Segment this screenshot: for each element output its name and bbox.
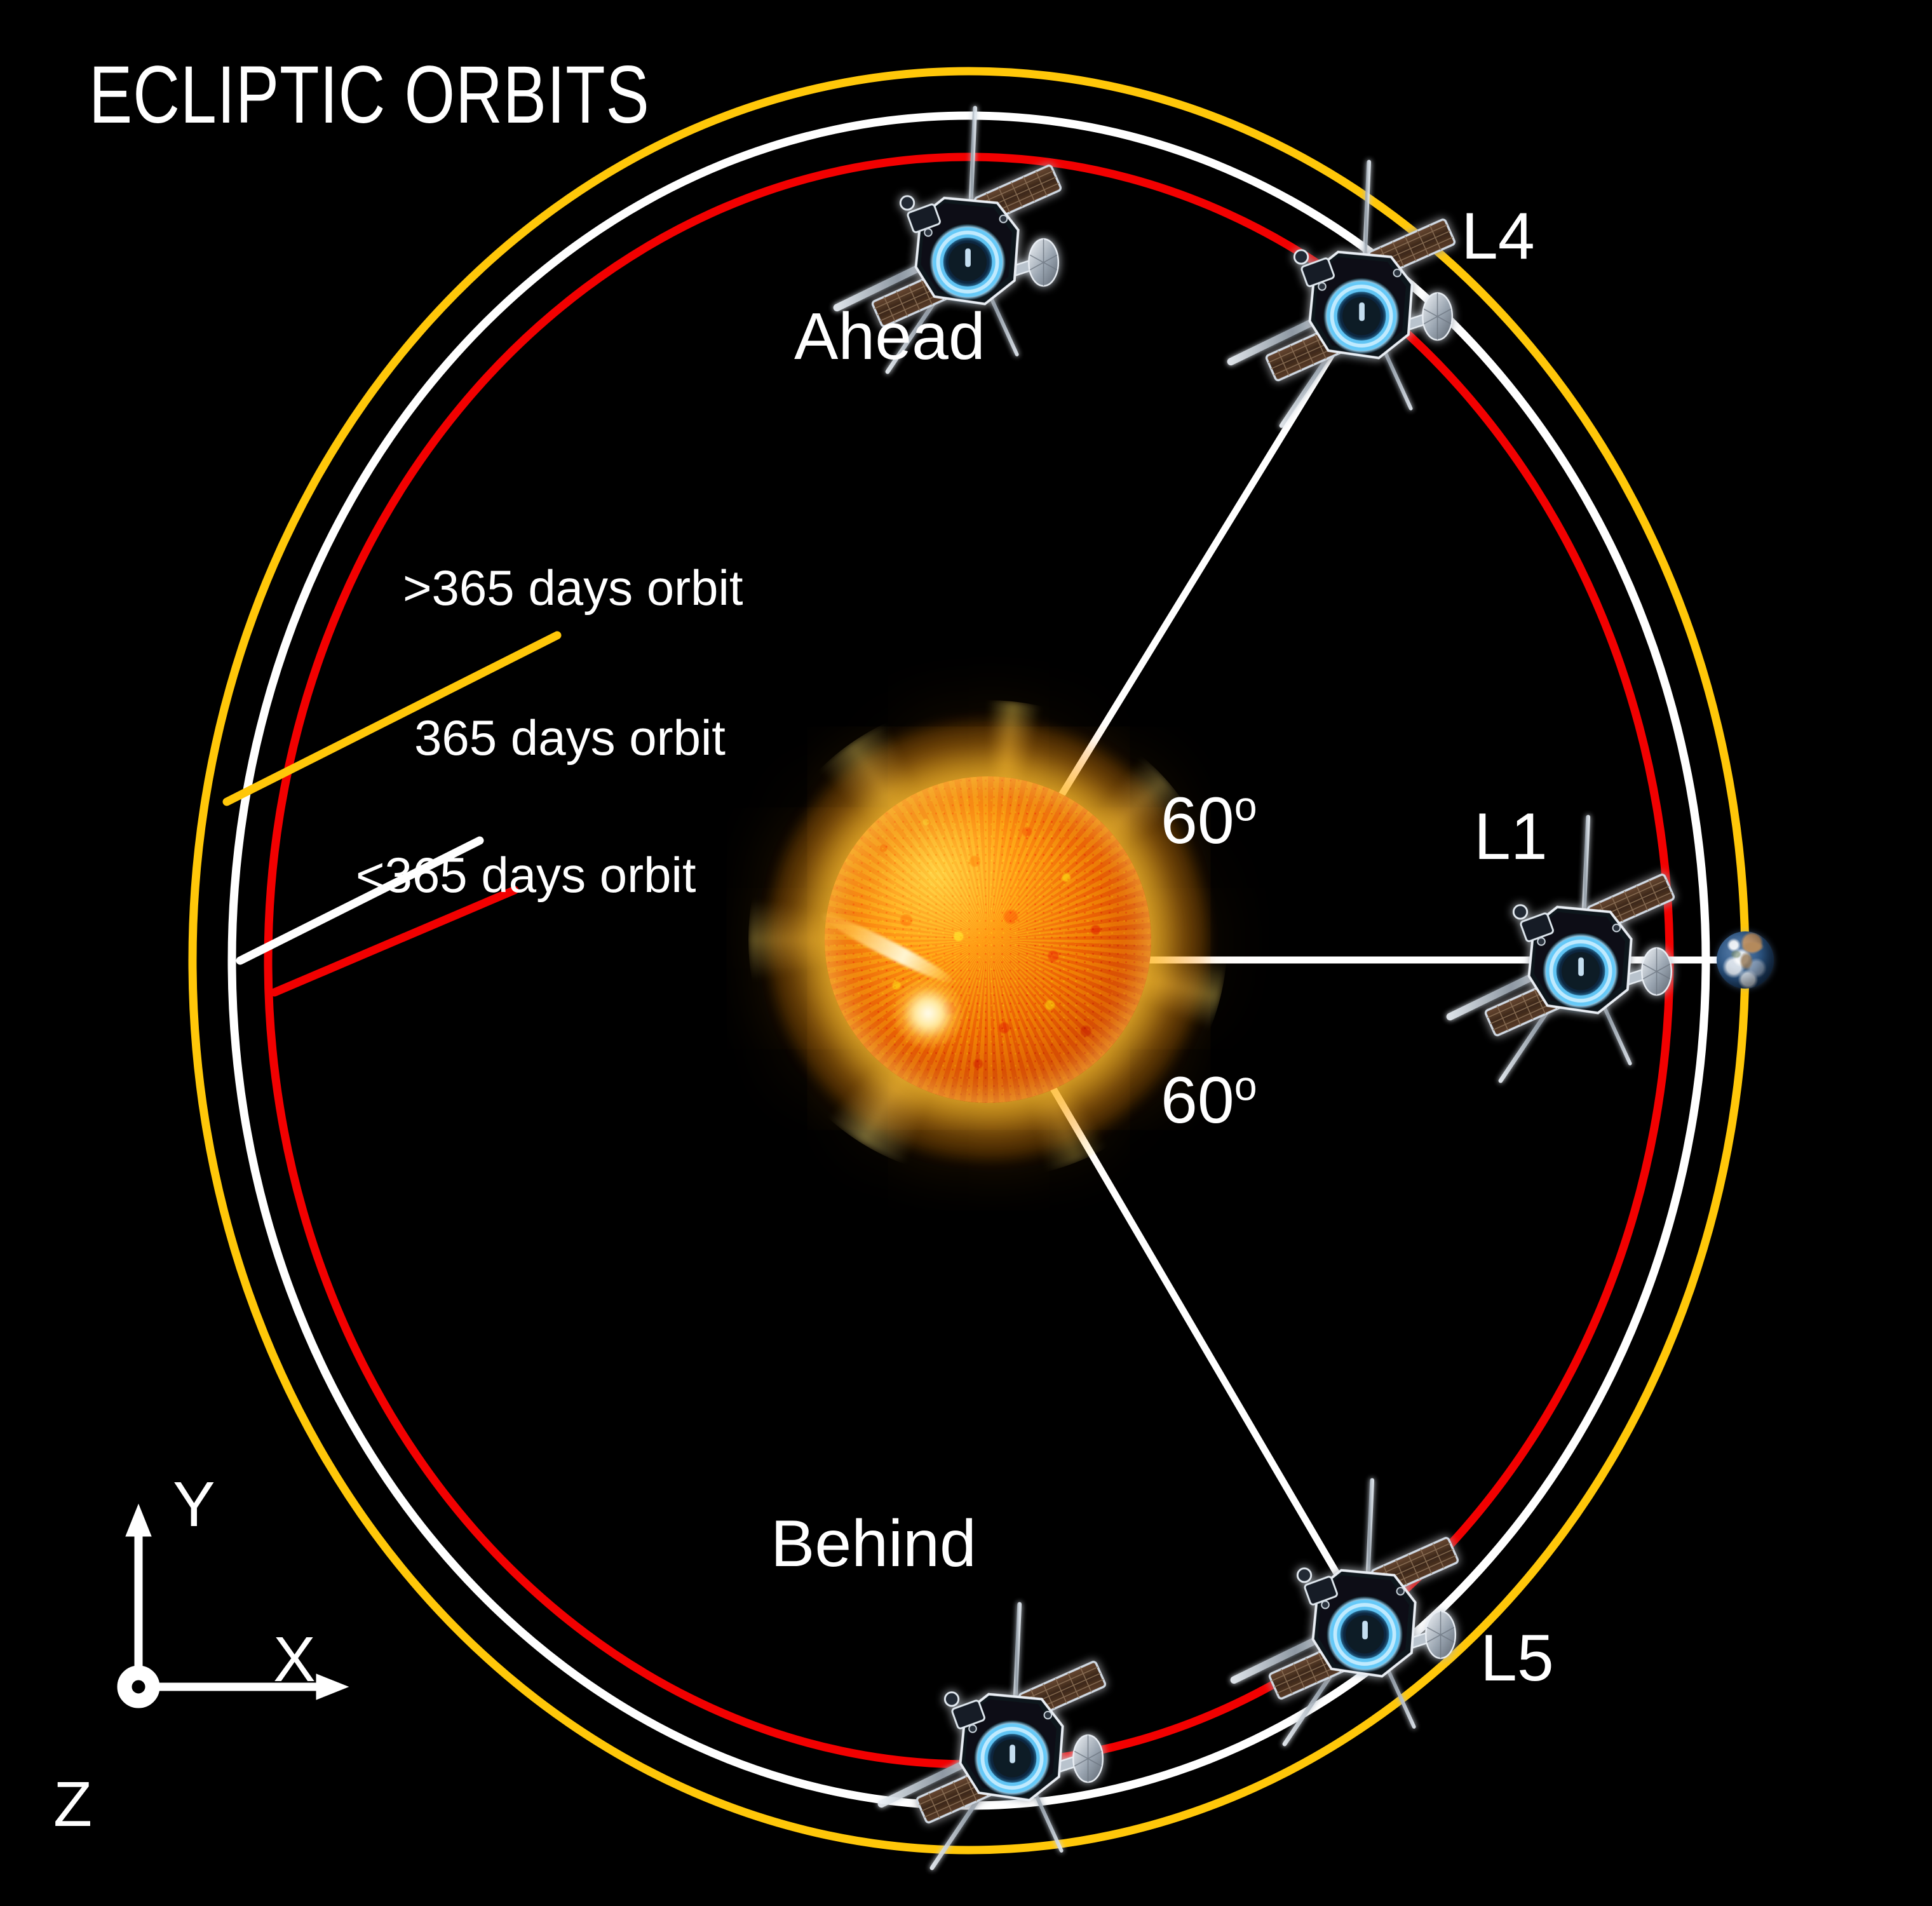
legend-label-earth-orbit: 365 days orbit bbox=[414, 713, 726, 762]
spacecraft-l4[interactable] bbox=[1231, 162, 1476, 426]
legend-label-fast-orbit: <365 days orbit bbox=[356, 850, 696, 900]
axis-z-dot bbox=[132, 1680, 145, 1694]
angle-label-upper: 60o bbox=[1161, 788, 1257, 854]
legend-label-slow-orbit: >365 days orbit bbox=[403, 563, 743, 612]
ecliptic-orbits-figure: ECLIPTIC ORBITS Ahead Behind L4 L1 L5 60… bbox=[0, 0, 1932, 1906]
spacecraft-l5[interactable] bbox=[1234, 1480, 1480, 1744]
axis-label-y: Y bbox=[173, 1473, 215, 1536]
axis-x-arrowhead bbox=[316, 1674, 348, 1700]
label-ahead: Ahead bbox=[794, 304, 985, 370]
spacecraft-behind[interactable] bbox=[881, 1604, 1127, 1868]
label-lagrange-l1: L1 bbox=[1474, 804, 1548, 870]
label-behind: Behind bbox=[771, 1511, 976, 1577]
angle-label-lower: 60o bbox=[1161, 1067, 1257, 1133]
solar-flare-hotspot bbox=[893, 978, 963, 1048]
axis-label-x: X bbox=[273, 1628, 316, 1691]
leader-fast-red bbox=[274, 890, 515, 992]
axis-label-z: Z bbox=[53, 1773, 92, 1836]
ray-sun-to-L5 bbox=[1048, 1080, 1363, 1619]
page-title: ECLIPTIC ORBITS bbox=[89, 55, 650, 136]
label-lagrange-l4: L4 bbox=[1461, 203, 1535, 269]
sun-body bbox=[825, 776, 1151, 1103]
axis-y-arrowhead bbox=[126, 1504, 151, 1536]
earth-body bbox=[1717, 931, 1774, 989]
label-lagrange-l5: L5 bbox=[1480, 1625, 1554, 1691]
angle-upper-unit: o bbox=[1234, 783, 1257, 829]
angle-lower-value: 60 bbox=[1161, 1064, 1234, 1137]
angle-lower-unit: o bbox=[1234, 1063, 1257, 1109]
earth-landmasses bbox=[1717, 931, 1774, 989]
angle-upper-value: 60 bbox=[1161, 784, 1234, 858]
